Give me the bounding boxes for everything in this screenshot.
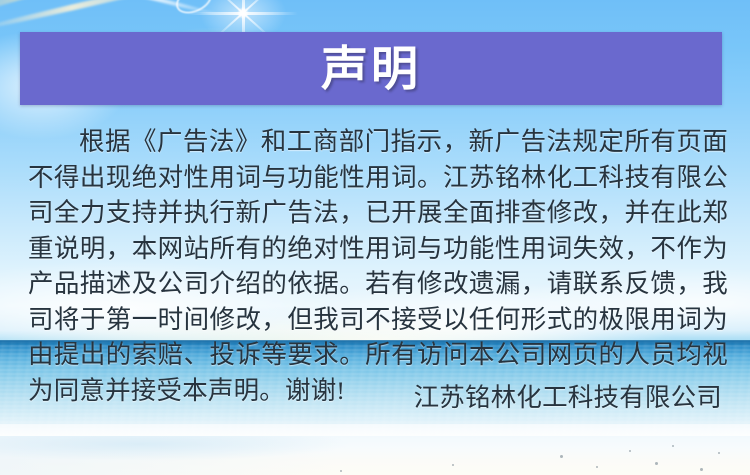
sand-speck bbox=[560, 455, 563, 458]
title-banner: 声明 bbox=[20, 32, 722, 105]
sand-speck bbox=[700, 468, 703, 471]
declaration-poster: 声明 根据《广告法》和工商部门指示，新广告法规定所有页面不得出现绝对性用词与功能… bbox=[0, 0, 750, 475]
sand-speck bbox=[718, 452, 720, 454]
sand-speck bbox=[672, 445, 674, 447]
sand-speck bbox=[629, 450, 631, 452]
sand-speck bbox=[596, 466, 598, 468]
sand-speck bbox=[655, 462, 658, 465]
sand-speck bbox=[452, 464, 454, 466]
declaration-paragraph: 根据《广告法》和工商部门指示，新广告法规定所有页面不得出现绝对性用词与功能性用词… bbox=[28, 124, 728, 408]
declaration-body: 根据《广告法》和工商部门指示，新广告法规定所有页面不得出现绝对性用词与功能性用词… bbox=[28, 124, 728, 408]
beach-tint bbox=[0, 436, 750, 475]
sand-speck bbox=[340, 470, 342, 472]
company-signature: 江苏铭林化工科技有限公司 bbox=[28, 382, 722, 414]
page-title: 声明 bbox=[321, 45, 421, 92]
